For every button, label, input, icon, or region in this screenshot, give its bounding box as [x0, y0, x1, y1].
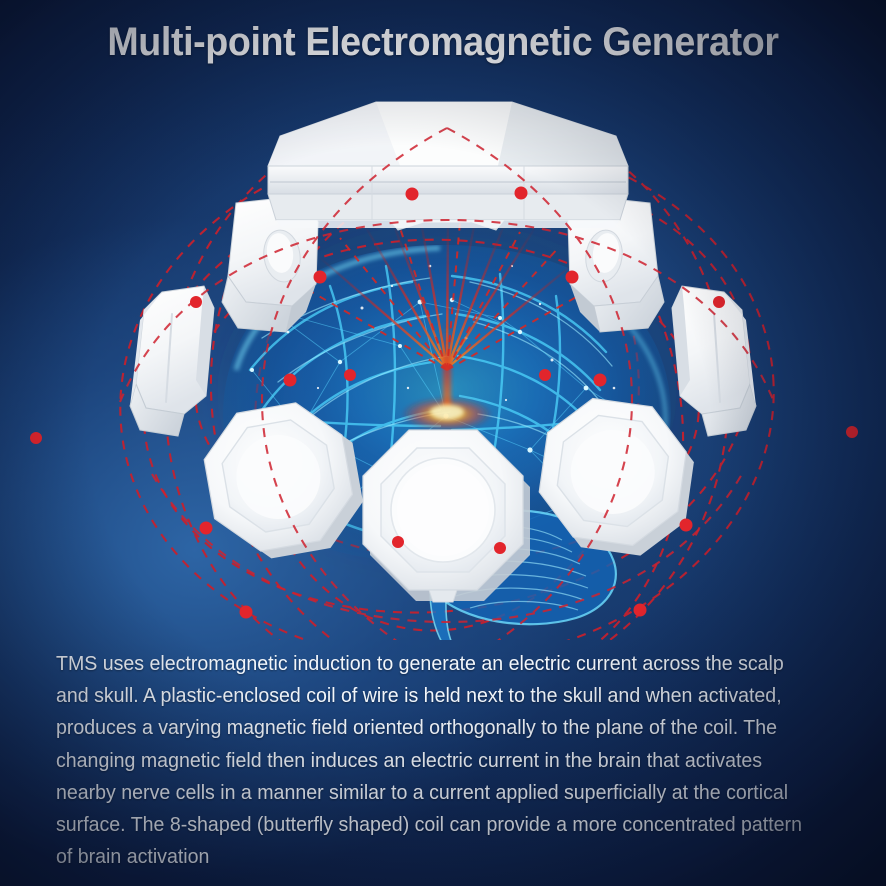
device-illustration	[0, 70, 886, 640]
top-housing[interactable]	[268, 102, 628, 228]
slide-root: Multi-point Electromagnetic Generator	[0, 0, 886, 886]
description-paragraph: TMS uses electromagnetic induction to ge…	[56, 648, 814, 873]
page-title: Multi-point Electromagnetic Generator	[27, 18, 860, 66]
